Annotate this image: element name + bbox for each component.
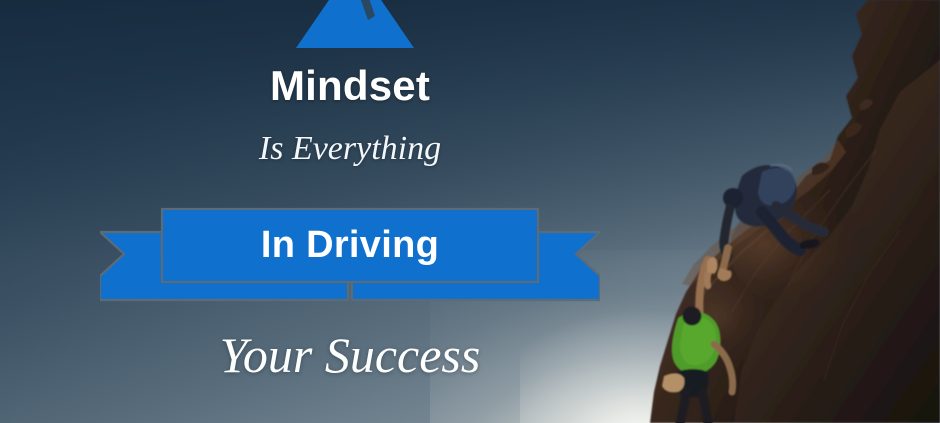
closing-line: Your Success bbox=[0, 326, 700, 384]
motivational-banner: Mindset Is Everything In Driving Your Su… bbox=[0, 0, 940, 423]
headline-column: Mindset Is Everything In Driving Your Su… bbox=[0, 0, 700, 423]
mountain-peak-icon bbox=[296, 0, 414, 48]
page-title: Mindset bbox=[0, 62, 700, 110]
ribbon-text: In Driving bbox=[162, 209, 538, 282]
subtitle: Is Everything bbox=[0, 130, 700, 168]
